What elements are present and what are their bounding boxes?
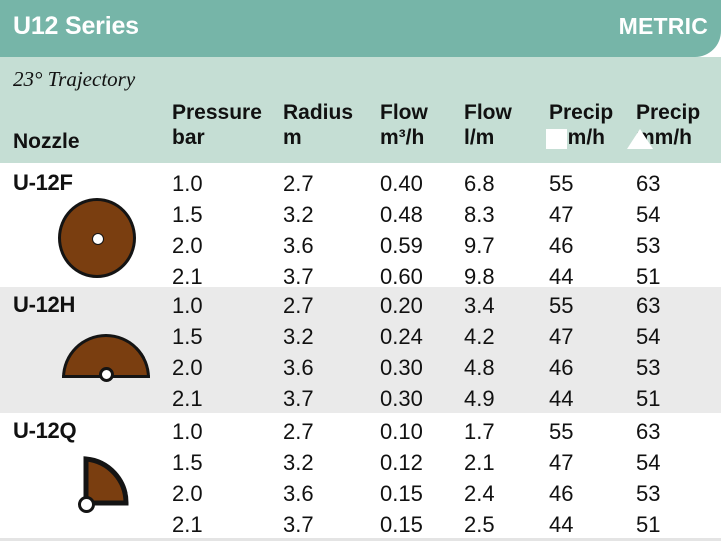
cell-flow-m3h: 0.30 [380, 355, 423, 381]
cell-precip-square: 46 [549, 355, 573, 381]
cell-precip-square: 55 [549, 293, 573, 319]
square-icon [546, 129, 567, 149]
page-title: U12 Series [13, 12, 139, 41]
cell-precip-triangle: 51 [636, 386, 660, 412]
cell-flow-lm: 2.5 [464, 512, 495, 538]
cell-flow-lm: 2.1 [464, 450, 495, 476]
cell-pressure: 2.0 [172, 233, 203, 259]
cell-precip-triangle: 63 [636, 293, 660, 319]
cell-radius: 3.6 [283, 481, 314, 507]
column-header-pressure-line2: bar [172, 125, 262, 150]
cell-pressure: 1.5 [172, 450, 203, 476]
column-header-flow-m3h: Flow m³/h [380, 100, 428, 150]
column-header-nozzle: Nozzle [13, 130, 80, 154]
cell-precip-triangle: 53 [636, 233, 660, 259]
cell-radius: 2.7 [283, 171, 314, 197]
cell-radius: 3.7 [283, 512, 314, 538]
cell-precip-square: 44 [549, 386, 573, 412]
cell-precip-square: 46 [549, 233, 573, 259]
cell-flow-lm: 2.4 [464, 481, 495, 507]
trajectory-label: 23° Trajectory [13, 67, 135, 92]
cell-flow-lm: 1.7 [464, 419, 495, 445]
column-header-flow-lm: Flow l/m [464, 100, 512, 150]
cell-pressure: 1.0 [172, 293, 203, 319]
cell-precip-triangle: 63 [636, 171, 660, 197]
cell-precip-triangle: 54 [636, 324, 660, 350]
cell-flow-m3h: 0.30 [380, 386, 423, 412]
table-header: 23° Trajectory Nozzle Pressure bar Radiu… [0, 57, 721, 163]
cell-precip-triangle: 53 [636, 355, 660, 381]
cell-precip-square: 55 [549, 171, 573, 197]
cell-precip-square: 47 [549, 324, 573, 350]
column-header-precip-triangle-line1: Precip [636, 101, 700, 124]
cell-pressure: 2.0 [172, 481, 203, 507]
cell-radius: 3.2 [283, 450, 314, 476]
cell-precip-triangle: 51 [636, 512, 660, 538]
table-row: 2.03.60.599.74653 [0, 233, 721, 264]
cell-pressure: 1.5 [172, 202, 203, 228]
cell-flow-lm: 6.8 [464, 171, 495, 197]
nozzle-section-u-12q: U-12Q1.02.70.101.755631.53.20.122.147542… [0, 413, 721, 541]
cell-precip-square: 47 [549, 202, 573, 228]
cell-flow-m3h: 0.12 [380, 450, 423, 476]
nozzle-section-u-12h: U-12H1.02.70.203.455631.53.20.244.247542… [0, 287, 721, 413]
cell-flow-m3h: 0.40 [380, 171, 423, 197]
cell-precip-triangle: 63 [636, 419, 660, 445]
cell-radius: 2.7 [283, 293, 314, 319]
column-header-flow-lm-line1: Flow [464, 101, 512, 124]
column-header-radius-line2: m [283, 125, 353, 150]
cell-flow-lm: 4.2 [464, 324, 495, 350]
cell-precip-square: 44 [549, 512, 573, 538]
cell-radius: 3.6 [283, 355, 314, 381]
cell-precip-triangle: 54 [636, 450, 660, 476]
column-header-radius-line1: Radius [283, 101, 353, 124]
column-header-pressure: Pressure bar [172, 100, 262, 150]
cell-pressure: 2.1 [172, 512, 203, 538]
table-row: 2.03.60.152.44653 [0, 481, 721, 512]
cell-precip-square: 46 [549, 481, 573, 507]
cell-radius: 3.2 [283, 202, 314, 228]
cell-precip-square: 55 [549, 419, 573, 445]
cell-pressure: 1.0 [172, 419, 203, 445]
cell-flow-lm: 3.4 [464, 293, 495, 319]
cell-flow-m3h: 0.15 [380, 512, 423, 538]
unit-system-badge: METRIC [619, 13, 708, 40]
cell-radius: 3.6 [283, 233, 314, 259]
column-header-flow-lm-line2: l/m [464, 125, 512, 150]
column-header-pressure-line1: Pressure [172, 101, 262, 124]
table-row: 1.53.20.488.34754 [0, 202, 721, 233]
cell-precip-square: 47 [549, 450, 573, 476]
nozzle-performance-chart: U12 Series METRIC 23° Trajectory Nozzle … [0, 0, 721, 541]
cell-precip-triangle: 53 [636, 481, 660, 507]
cell-flow-m3h: 0.15 [380, 481, 423, 507]
cell-flow-lm: 4.8 [464, 355, 495, 381]
cell-flow-lm: 9.7 [464, 233, 495, 259]
column-header-flow-m3h-line1: Flow [380, 101, 428, 124]
column-header-precip-square-line1: Precip [549, 101, 613, 124]
cell-flow-m3h: 0.20 [380, 293, 423, 319]
cell-radius: 3.2 [283, 324, 314, 350]
table-row: 1.53.20.122.14754 [0, 450, 721, 481]
cell-pressure: 2.1 [172, 386, 203, 412]
column-header-flow-m3h-line2: m³/h [380, 125, 428, 150]
table-row: 1.02.70.101.75563 [0, 419, 721, 450]
table-row: 2.03.60.304.84653 [0, 355, 721, 386]
cell-pressure: 1.5 [172, 324, 203, 350]
cell-flow-m3h: 0.59 [380, 233, 423, 259]
cell-radius: 3.7 [283, 386, 314, 412]
column-header-radius: Radius m [283, 100, 353, 150]
table-row: 1.53.20.244.24754 [0, 324, 721, 355]
cell-flow-m3h: 0.10 [380, 419, 423, 445]
header-bar: U12 Series METRIC [0, 0, 721, 57]
cell-flow-lm: 8.3 [464, 202, 495, 228]
cell-pressure: 2.0 [172, 355, 203, 381]
triangle-icon [627, 129, 653, 149]
cell-precip-triangle: 54 [636, 202, 660, 228]
cell-flow-lm: 4.9 [464, 386, 495, 412]
cell-pressure: 1.0 [172, 171, 203, 197]
cell-radius: 2.7 [283, 419, 314, 445]
cell-flow-m3h: 0.24 [380, 324, 423, 350]
nozzle-section-u-12f: U-12F1.02.70.406.855631.53.20.488.347542… [0, 165, 721, 287]
table-row: 1.02.70.406.85563 [0, 171, 721, 202]
table-row: 1.02.70.203.45563 [0, 293, 721, 324]
cell-flow-m3h: 0.48 [380, 202, 423, 228]
